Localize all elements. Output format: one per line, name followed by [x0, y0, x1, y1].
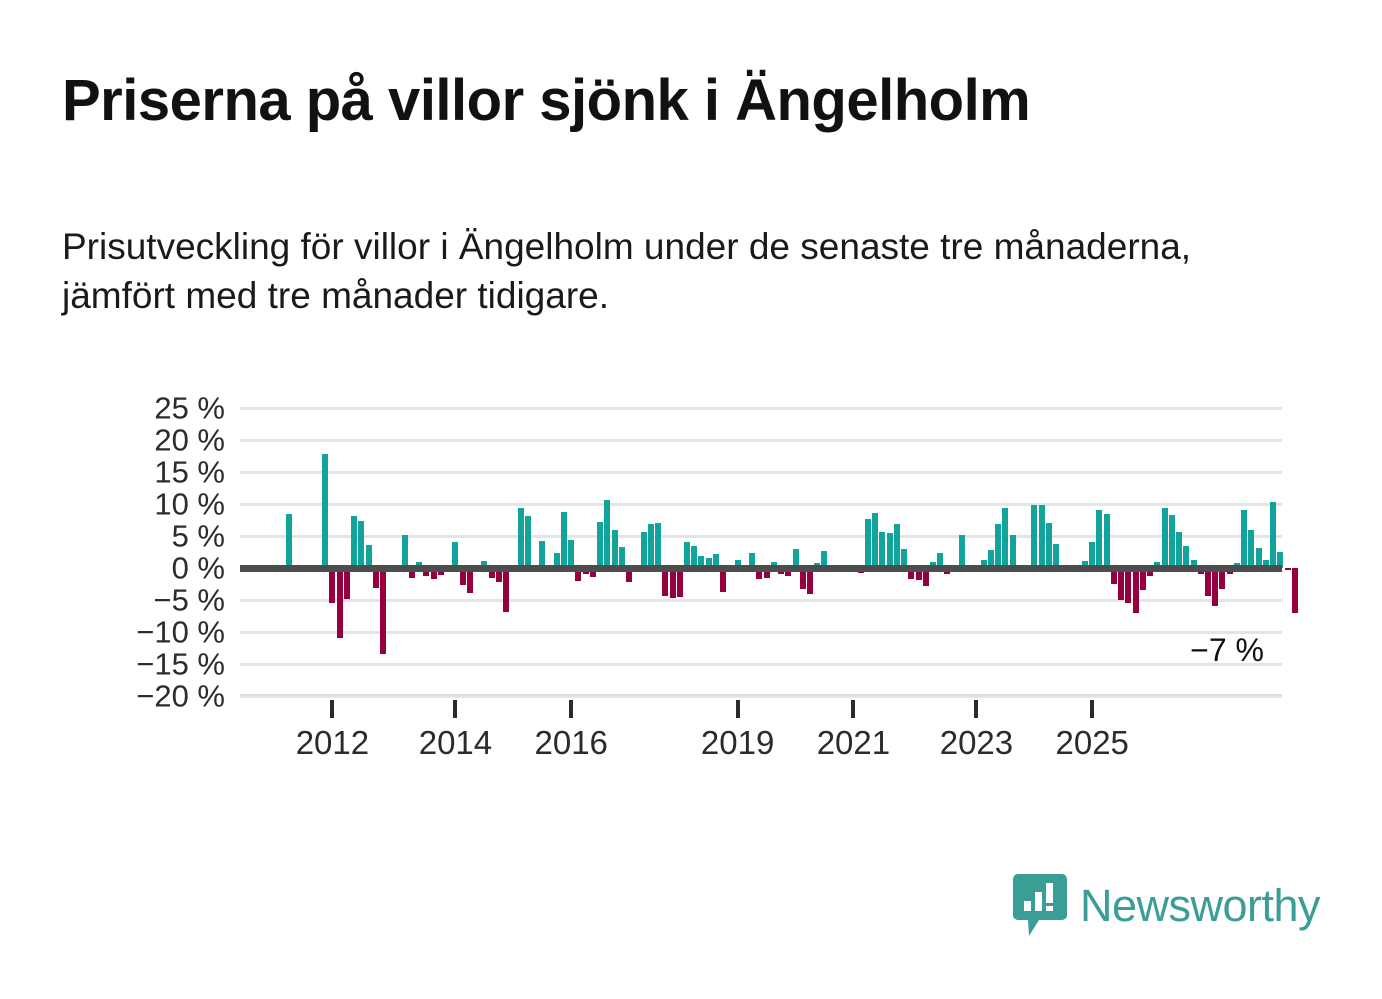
- bar: [1104, 514, 1110, 568]
- bar: [1031, 505, 1037, 568]
- gridline: [240, 663, 1282, 666]
- gridline: [240, 503, 1282, 506]
- bar: [351, 516, 357, 568]
- bar: [1002, 508, 1008, 568]
- x-axis-tick: [736, 700, 740, 718]
- value-annotation: −7 %: [1190, 632, 1264, 669]
- bar: [539, 541, 545, 568]
- bar: [1285, 568, 1291, 570]
- x-axis-tick: [1090, 700, 1094, 718]
- x-axis-line: [240, 694, 1282, 696]
- bar: [1292, 568, 1298, 613]
- x-axis-tick-label: 2016: [534, 724, 607, 762]
- y-axis-labels: 25 %20 %15 %10 %5 %0 %−5 %−10 %−15 %−20 …: [60, 408, 225, 696]
- bar: [380, 568, 386, 654]
- bar: [670, 568, 676, 598]
- x-axis-tick: [453, 700, 457, 718]
- bar: [1118, 568, 1124, 600]
- x-axis-tick: [569, 700, 573, 718]
- bar: [1010, 535, 1016, 568]
- logo-text: Newsworthy: [1080, 883, 1320, 928]
- bar: [1125, 568, 1131, 603]
- page-title: Priserna på villor sjönk i Ängelholm: [62, 72, 1322, 130]
- chart-container: Priserna på villor sjönk i Ängelholm Pri…: [0, 0, 1382, 999]
- x-axis-tick-label: 2023: [940, 724, 1013, 762]
- bar: [1133, 568, 1139, 613]
- y-axis-tick-label: 0 %: [60, 553, 225, 584]
- bar: [322, 454, 328, 568]
- x-axis-tick-label: 2025: [1055, 724, 1128, 762]
- bar: [1176, 532, 1182, 568]
- x-axis-tick-label: 2014: [419, 724, 492, 762]
- bar: [959, 535, 965, 568]
- bar: [894, 524, 900, 568]
- plot-area: −7 %: [240, 408, 1282, 696]
- bar: [662, 568, 668, 596]
- zero-line: [240, 565, 1282, 572]
- bar: [329, 568, 335, 603]
- y-axis-tick-label: −5 %: [60, 585, 225, 616]
- gridline: [240, 439, 1282, 442]
- bar: [1270, 502, 1276, 568]
- gridline: [240, 535, 1282, 538]
- bar: [1169, 515, 1175, 568]
- y-axis-tick-label: 25 %: [60, 393, 225, 424]
- bar: [344, 568, 350, 599]
- bar: [1205, 568, 1211, 596]
- y-axis-tick-label: 15 %: [60, 457, 225, 488]
- bar: [1046, 523, 1052, 568]
- bar: [641, 532, 647, 568]
- bar: [402, 535, 408, 568]
- bar: [1162, 508, 1168, 568]
- bar: [503, 568, 509, 612]
- bar: [1096, 510, 1102, 568]
- bar: [612, 530, 618, 568]
- x-axis-tick: [851, 700, 855, 718]
- bar: [872, 513, 878, 568]
- bar: [879, 532, 885, 568]
- bar: [1039, 505, 1045, 568]
- x-axis-tick-label: 2012: [296, 724, 369, 762]
- bar: [1241, 510, 1247, 568]
- bar: [358, 521, 364, 568]
- x-axis: 2012201420162019202120232025: [240, 694, 1282, 774]
- bar: [648, 524, 654, 568]
- bar: [655, 523, 661, 568]
- bar: [568, 540, 574, 568]
- bar: [525, 516, 531, 568]
- y-axis-tick-label: −10 %: [60, 617, 225, 648]
- y-axis-tick-label: 5 %: [60, 521, 225, 552]
- gridline: [240, 471, 1282, 474]
- bar: [597, 522, 603, 568]
- x-axis-tick: [330, 700, 334, 718]
- bar: [561, 512, 567, 568]
- x-axis-tick-label: 2019: [701, 724, 774, 762]
- bar: [337, 568, 343, 638]
- newsworthy-barchart-bubble-icon: [1013, 874, 1067, 936]
- y-axis-tick-label: −15 %: [60, 649, 225, 680]
- bar: [286, 514, 292, 568]
- bar: [518, 508, 524, 568]
- y-axis-tick-label: −20 %: [60, 681, 225, 712]
- gridline: [240, 407, 1282, 410]
- x-axis-tick-label: 2021: [817, 724, 890, 762]
- y-axis-tick-label: 10 %: [60, 489, 225, 520]
- bar: [865, 519, 871, 568]
- page-subtitle: Prisutveckling för villor i Ängelholm un…: [62, 222, 1302, 320]
- bar: [677, 568, 683, 597]
- gridline: [240, 631, 1282, 634]
- bar: [887, 533, 893, 568]
- x-axis-tick: [974, 700, 978, 718]
- bar: [1248, 530, 1254, 568]
- newsworthy-logo: Newsworthy: [1013, 874, 1320, 936]
- bar: [604, 500, 610, 568]
- y-axis-tick-label: 20 %: [60, 425, 225, 456]
- bar: [1212, 568, 1218, 606]
- bar: [995, 524, 1001, 568]
